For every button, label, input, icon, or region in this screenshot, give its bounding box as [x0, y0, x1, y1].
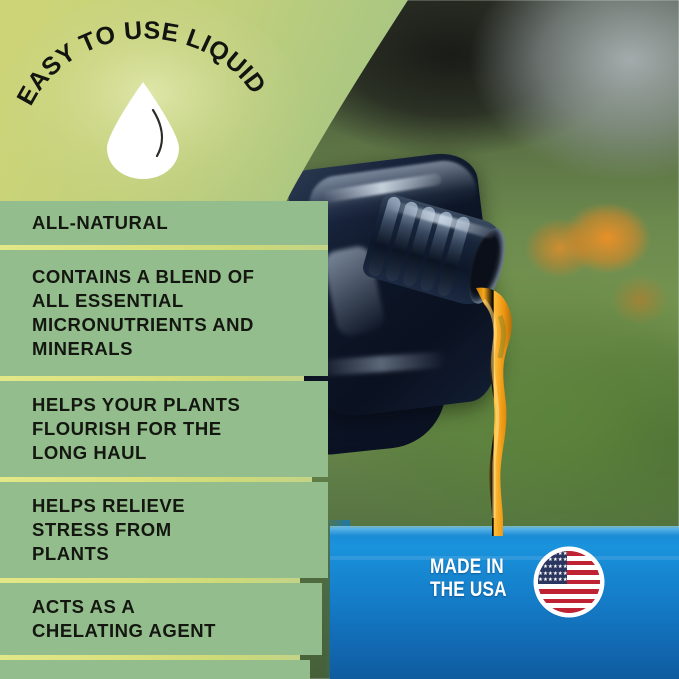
water-droplet-icon [101, 78, 185, 182]
feature-text: CONTAINS A BLEND OF ALL ESSENTIAL MICRON… [0, 265, 267, 361]
flag-canton: ★ ★ ★ ★ ★ ★ ★ ★ ★ ★ ★ ★ ★ ★ ★ ★ ★ [538, 551, 567, 584]
flag-star: ★ [563, 558, 568, 564]
infographic-canvas: EASY TO USE LIQUID ALL-NATURAL CONTAINS … [0, 0, 679, 679]
feature-panel-all-natural: ALL-NATURAL [0, 201, 328, 245]
made-in-usa-line2: THE USA [430, 579, 507, 601]
feature-panel-flourish: HELPS YOUR PLANTS FLOURISH FOR THE LONG … [0, 381, 328, 477]
flag-star: ★ [563, 578, 568, 584]
feature-text: ALL-NATURAL [0, 211, 180, 235]
feature-panel-chelating-agent: ACTS AS A CHELATING AGENT [0, 583, 322, 655]
feature-panel-stress-relief: HELPS RELIEVE STRESS FROM PLANTS [0, 482, 328, 578]
flag-stars: ★ ★ ★ ★ ★ ★ ★ ★ ★ ★ ★ ★ ★ ★ ★ ★ ★ [538, 551, 567, 584]
feature-text: ACTS AS A CHELATING AGENT [0, 595, 228, 643]
blue-barrel [330, 528, 679, 679]
made-in-usa-line1: MADE IN [430, 556, 504, 578]
feature-text: HELPS YOUR PLANTS FLOURISH FOR THE LONG … [0, 393, 252, 465]
usa-flag-circle-icon: ★ ★ ★ ★ ★ ★ ★ ★ ★ ★ ★ ★ ★ ★ ★ ★ ★ [536, 549, 602, 615]
flag-star: ★ [563, 565, 568, 571]
made-in-usa-badge-line2: THE USA [430, 579, 524, 601]
feature-panel-micronutrients: CONTAINS A BLEND OF ALL ESSENTIAL MICRON… [0, 250, 328, 376]
feature-text: HELPS RELIEVE STRESS FROM PLANTS [0, 494, 197, 566]
made-in-usa-badge: MADE IN [430, 556, 520, 578]
pouring-liquid-stream [470, 286, 550, 536]
feature-panel-footer-strip [0, 660, 310, 679]
